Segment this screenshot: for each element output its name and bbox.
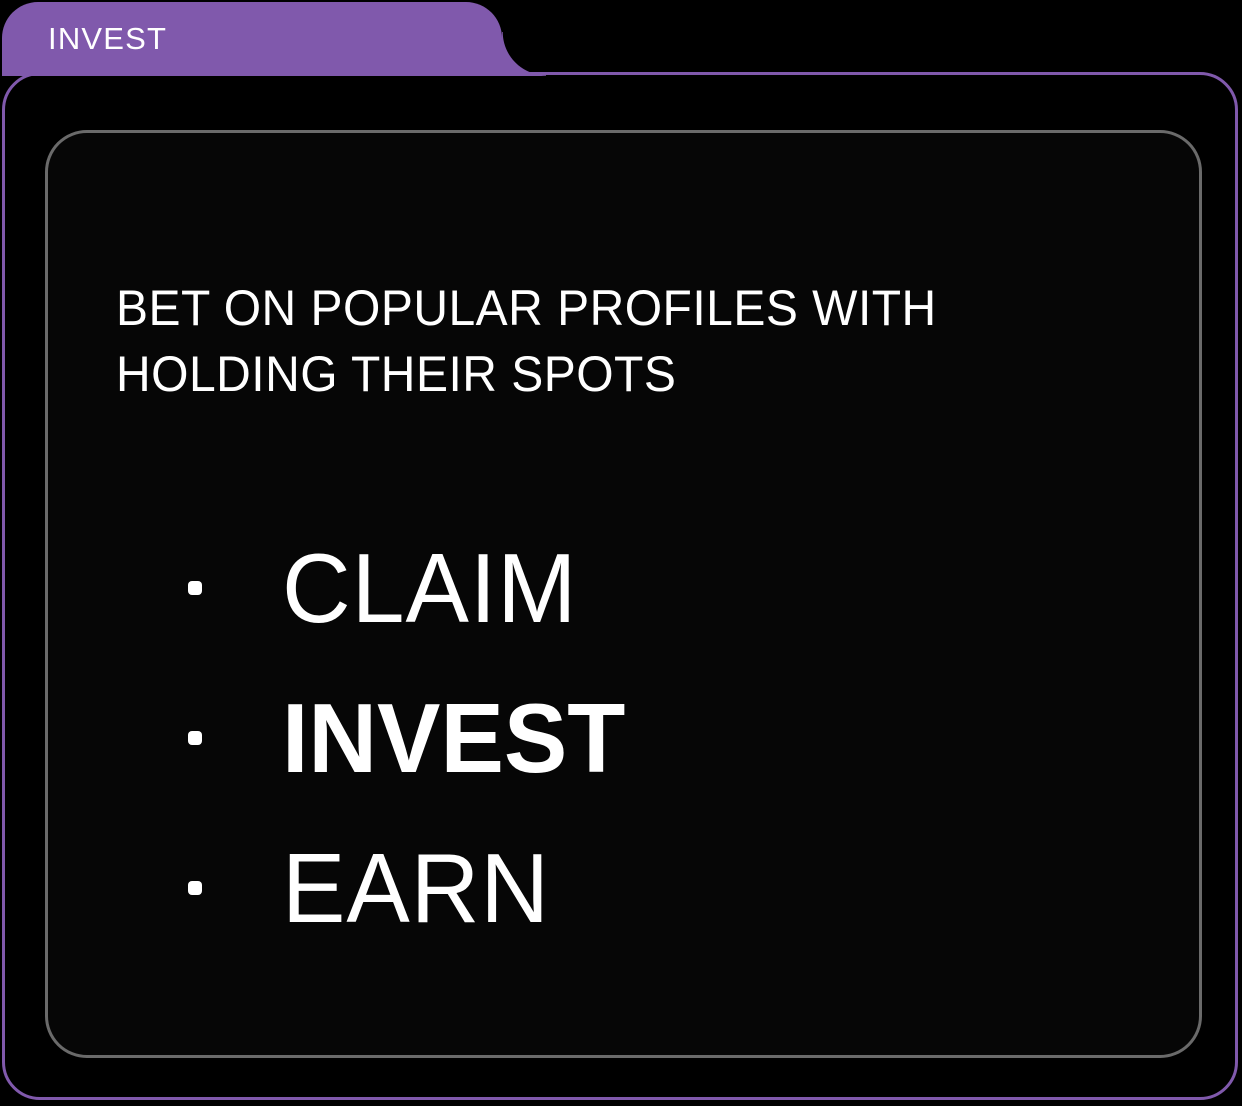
dot-bullet-icon bbox=[188, 731, 202, 745]
list-item-label: CLAIM bbox=[282, 536, 577, 640]
folder-frame: BET ON POPULAR PROFILES WITH HOLDING THE… bbox=[2, 72, 1238, 1100]
folder-tab-label: INVEST bbox=[48, 20, 167, 58]
dot-bullet-icon bbox=[188, 881, 202, 895]
page-title: BET ON POPULAR PROFILES WITH HOLDING THE… bbox=[116, 275, 1114, 407]
page-title-line-2: HOLDING THEIR SPOTS bbox=[116, 341, 1114, 407]
list-item-earn[interactable]: EARN bbox=[156, 813, 1156, 963]
dot-bullet-icon bbox=[188, 581, 202, 595]
page-title-line-1: BET ON POPULAR PROFILES WITH bbox=[116, 275, 1114, 341]
inner-panel: BET ON POPULAR PROFILES WITH HOLDING THE… bbox=[45, 130, 1202, 1058]
list-item-label: INVEST bbox=[282, 686, 625, 790]
list-item-invest[interactable]: INVEST bbox=[156, 663, 1156, 813]
invest-card-stage: INVEST BET ON POPULAR PROFILES WITH HOLD… bbox=[0, 0, 1242, 1106]
list-item-label: EARN bbox=[282, 836, 550, 940]
folder-tab-invest[interactable]: INVEST bbox=[2, 2, 502, 76]
feature-list: CLAIM INVEST EARN bbox=[156, 513, 1156, 963]
list-item-claim[interactable]: CLAIM bbox=[156, 513, 1156, 663]
